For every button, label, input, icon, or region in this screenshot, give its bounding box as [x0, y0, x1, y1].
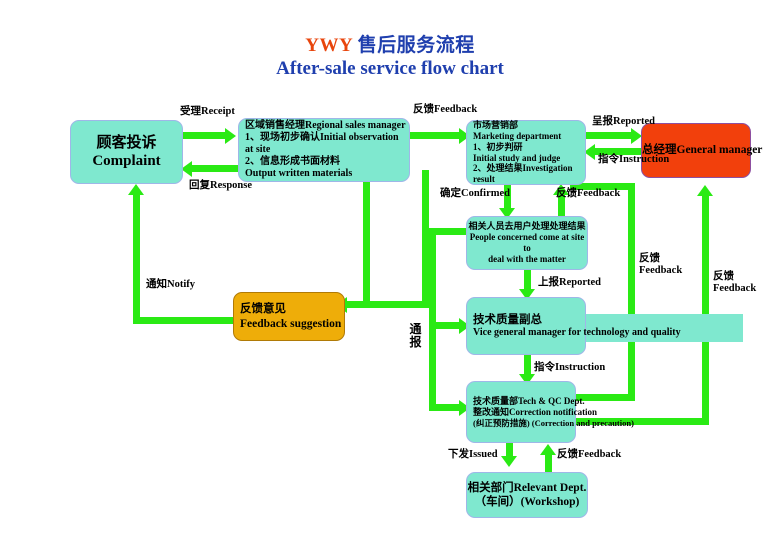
- node-sales-line4: Output written materials: [245, 168, 409, 180]
- node-complaint-en: Complaint: [71, 152, 182, 170]
- node-feedback-suggestion[interactable]: 反馈意见 Feedback suggestion: [233, 292, 345, 341]
- edge-label-notify: 通知Notify: [146, 279, 195, 291]
- node-vice-general-manager[interactable]: 技术质量副总 Vice general manager for technolo…: [466, 297, 586, 355]
- arrowhead-feedback-bottom: [540, 444, 556, 455]
- edge-label-instruction-gm: 指令Instruction: [598, 154, 669, 166]
- connector-reported-to-gm: [586, 132, 634, 139]
- connector-response: [192, 165, 238, 172]
- connector-feedback-col1-v: [628, 183, 635, 401]
- node-feedback-sug-cn: 反馈意见: [240, 302, 344, 316]
- arrowhead-feedback-col2: [697, 185, 713, 196]
- edge-label-feedback-col1: 反馈 Feedback: [639, 253, 685, 278]
- edge-label-feedback-top: 反馈Feedback: [413, 104, 477, 116]
- page-title-cn-text: 售后服务流程: [358, 35, 475, 56]
- edge-label-notice-vertical: 通报: [409, 323, 422, 349]
- node-relevant-dept[interactable]: 相关部门Relevant Dept. （车间）(Workshop): [466, 472, 588, 518]
- node-regional-sales-manager[interactable]: 区域销售经理Regional sales manager 1、现场初步确认Ini…: [238, 118, 410, 182]
- edge-label-response: 回复Response: [189, 180, 252, 192]
- node-tech-qc-dept[interactable]: 技术质量部Tech & QC Dept. 整改通知Correction noti…: [466, 381, 576, 443]
- edge-label-receipt: 受理Receipt: [180, 106, 235, 118]
- node-feedback-sug-en: Feedback suggestion: [240, 317, 344, 331]
- node-marketing-line5: 2、处理结果Investigation result: [473, 163, 585, 185]
- node-general-manager[interactable]: 总经理General manager: [641, 123, 751, 178]
- node-complaint[interactable]: 顾客投诉 Complaint: [70, 120, 183, 184]
- node-vice-gm-cn: 技术质量副总: [473, 313, 585, 327]
- arrowhead-issued: [501, 456, 517, 467]
- node-techqc-line1: 技术质量部Tech & QC Dept.: [473, 396, 575, 407]
- connector-notify-h: [133, 317, 233, 324]
- connector-marketing-loop-v: [422, 170, 429, 308]
- edge-label-feedback-mid: 反馈Feedback: [556, 188, 620, 200]
- node-sales-line2: 1、现场初步确认Initial observation at site: [245, 132, 409, 156]
- node-people-line2: People concerned come at site to: [467, 232, 587, 254]
- edge-label-issued: 下发Issued: [448, 449, 498, 461]
- connector-notify-v: [133, 195, 140, 324]
- node-marketing-line3: 1、初步判研: [473, 142, 585, 153]
- node-relevant-line1: 相关部门Relevant Dept.: [467, 481, 587, 495]
- connector-marketing-loop-h: [345, 301, 429, 308]
- connector-salesmgr-down: [363, 182, 370, 308]
- page-title-chinese: YWY 售后服务流程: [0, 30, 780, 57]
- node-people-concerned[interactable]: 相关人员去用户处理处理结果 People concerned come at s…: [466, 216, 588, 270]
- node-people-line3: deal with the matter: [467, 254, 587, 265]
- node-relevant-line2: （车间）(Workshop): [467, 495, 587, 509]
- brand-label: YWY: [305, 35, 358, 56]
- node-marketing-line4: Initial study and judge: [473, 153, 585, 164]
- node-people-line1: 相关人员去用户处理处理结果: [467, 221, 587, 232]
- arrowhead-receipt: [225, 128, 236, 144]
- edge-label-reported-up: 上报Reported: [538, 277, 601, 289]
- node-marketing-line2: Marketing department: [473, 131, 585, 142]
- flowchart-canvas: YWY 售后服务流程 After-sale service flow chart: [0, 0, 780, 540]
- node-sales-line1: 区域销售经理Regional sales manager: [245, 120, 409, 132]
- node-techqc-line3: (纠正预防措施) (Correction and precaution): [473, 418, 575, 428]
- edge-label-instruction-vgm: 指令Instruction: [534, 362, 605, 374]
- node-marketing-line1: 市场营销部: [473, 120, 585, 131]
- connector-tongbao-branch-qc: [429, 404, 462, 411]
- connector-sales-to-marketing: [410, 132, 462, 139]
- connector-tongbao-v: [429, 228, 436, 408]
- node-complaint-cn: 顾客投诉: [71, 134, 182, 152]
- connector-feedback-col2-v: [702, 195, 709, 425]
- edge-label-feedback-col2: 反馈 Feedback: [713, 271, 759, 296]
- node-sales-line3: 2、信息形成书面材料: [245, 156, 409, 168]
- node-marketing-department[interactable]: 市场营销部 Marketing department 1、初步判研 Initia…: [466, 120, 586, 185]
- page-title-english: After-sale service flow chart: [0, 58, 780, 80]
- arrowhead-notify: [128, 184, 144, 195]
- node-techqc-line2: 整改通知Correction notification: [473, 407, 575, 418]
- edge-label-reported-top: 呈报Reported: [592, 116, 655, 128]
- edge-label-confirmed: 确定Confirmed: [440, 188, 510, 200]
- edge-label-feedback-bottom: 反馈Feedback: [557, 449, 621, 461]
- connector-receipt: [183, 132, 227, 139]
- connector-tongbao-branch-vgm: [429, 322, 462, 329]
- node-vice-gm-en: Vice general manager for technology and …: [473, 327, 585, 339]
